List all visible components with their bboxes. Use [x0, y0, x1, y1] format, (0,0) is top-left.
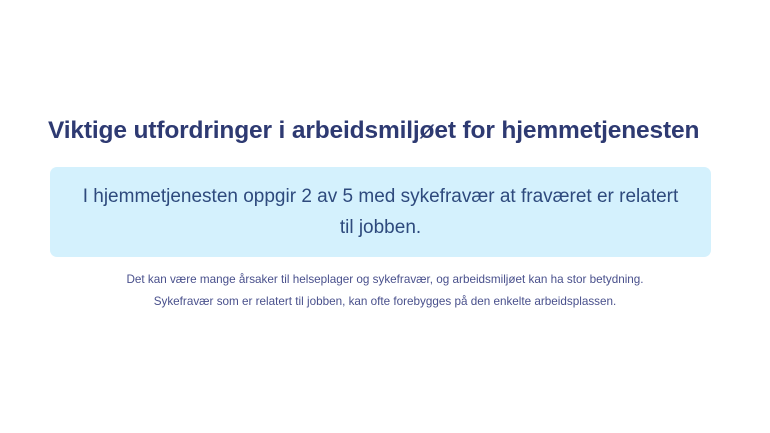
page-title: Viktige utfordringer i arbeidsmiljøet fo…: [48, 115, 728, 147]
footnote-line-2: Sykefravær som er relatert til jobben, k…: [55, 291, 715, 313]
footnote-line-1: Det kan være mange årsaker til helseplag…: [55, 269, 715, 291]
infographic-container: Viktige utfordringer i arbeidsmiljøet fo…: [0, 0, 770, 433]
footnote: Det kan være mange årsaker til helseplag…: [55, 269, 715, 312]
highlight-callout-box: I hjemmetjenesten oppgir 2 av 5 med syke…: [50, 167, 711, 257]
highlight-statistic-text: I hjemmetjenesten oppgir 2 av 5 med syke…: [75, 181, 687, 243]
